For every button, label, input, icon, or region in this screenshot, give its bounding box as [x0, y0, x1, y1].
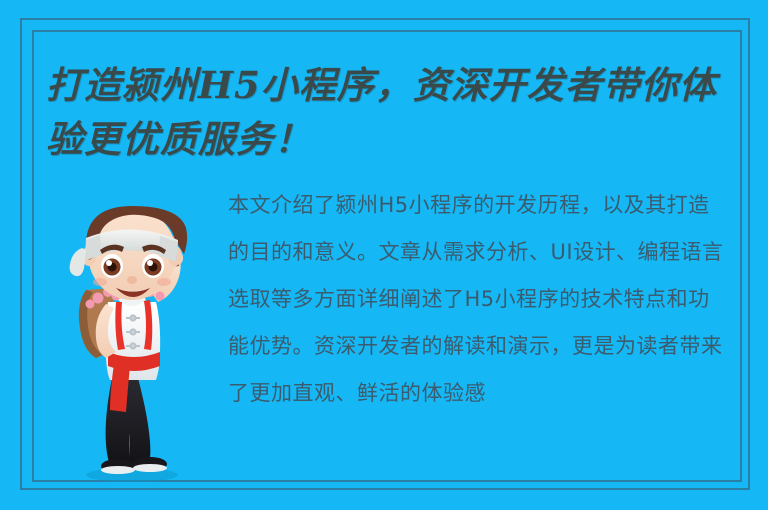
chibi-boy-illustration: [52, 192, 212, 482]
left-eye: [101, 254, 123, 278]
right-blush: [157, 278, 171, 286]
nose: [127, 276, 137, 284]
right-eye: [142, 254, 164, 278]
chibi-boy-svg: [52, 192, 212, 482]
headband-tail: [70, 248, 86, 276]
poster-canvas: 打造颍州H5小程序，资深开发者带你体验更优质服务！ 本文介绍了颍州H5小程序的开…: [0, 0, 768, 510]
article-summary-text: 本文介绍了颍州H5小程序的开发历程，以及其打造的目的和意义。文章从需求分析、UI…: [228, 182, 728, 417]
left-blush: [93, 278, 107, 286]
page-title: 打造颍州H5小程序，资深开发者带你体验更优质服务！: [46, 58, 736, 166]
